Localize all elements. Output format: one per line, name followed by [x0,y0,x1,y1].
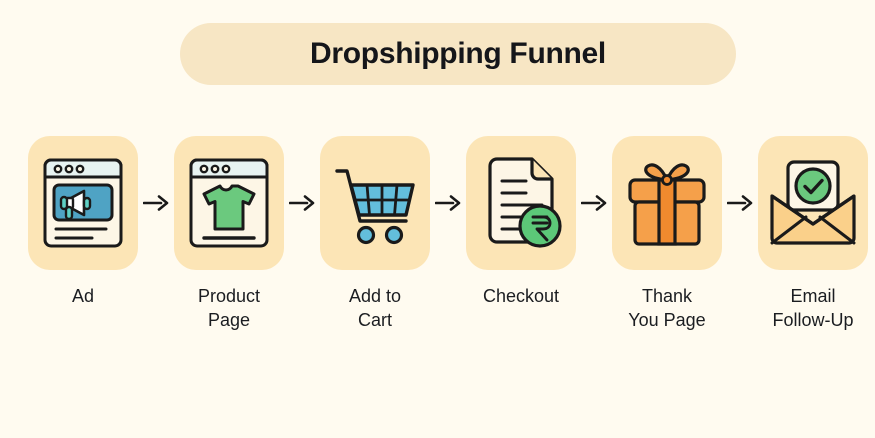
step-label-product-page: Product Page [198,284,260,332]
step-tile-thank-you-page[interactable] [612,136,722,270]
funnel-step-product-page[interactable]: Product Page [174,136,284,332]
shopping-cart-icon [329,157,421,249]
gift-box-icon [622,156,712,250]
title-banner: Dropshipping Funnel [180,23,736,85]
step-tile-checkout[interactable] [466,136,576,270]
arrow-right-icon-1 [138,136,174,270]
browser-tshirt-icon [186,155,272,251]
funnel-step-thank-you-page[interactable]: Thank You Page [612,136,722,332]
page-title: Dropshipping Funnel [310,37,606,71]
funnel-flow: Ad Product Page [28,136,848,332]
funnel-step-email-follow-up[interactable]: Email Follow-Up [758,136,868,332]
arrow-right-icon-4 [576,136,612,270]
arrow-right-icon-2 [284,136,320,270]
step-label-ad: Ad [72,284,94,308]
envelope-check-icon [766,158,860,248]
browser-megaphone-icon [40,155,126,251]
funnel-step-checkout[interactable]: Checkout [466,136,576,308]
invoice-rupee-icon [478,154,564,252]
arrow-right-icon-5 [722,136,758,270]
step-label-email-follow-up: Email Follow-Up [772,284,853,332]
step-tile-email-follow-up[interactable] [758,136,868,270]
step-tile-add-to-cart[interactable] [320,136,430,270]
step-tile-product-page[interactable] [174,136,284,270]
arrow-right-icon-3 [430,136,466,270]
step-label-checkout: Checkout [483,284,559,308]
step-tile-ad[interactable] [28,136,138,270]
step-label-add-to-cart: Add to Cart [349,284,401,332]
step-label-thank-you-page: Thank You Page [628,284,705,332]
funnel-step-ad[interactable]: Ad [28,136,138,308]
funnel-step-add-to-cart[interactable]: Add to Cart [320,136,430,332]
